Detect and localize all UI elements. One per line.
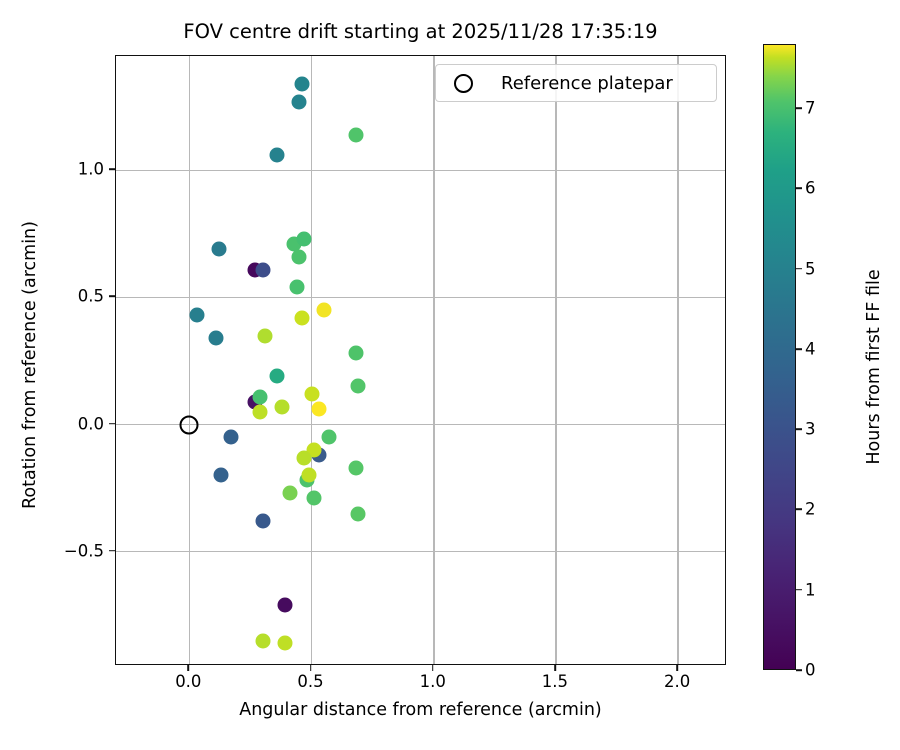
scatter-point (223, 430, 238, 445)
y-gridline (116, 170, 725, 172)
scatter-point (350, 379, 365, 394)
x-tick-label: 2.0 (664, 672, 690, 691)
colorbar-label: Hours from first FF file (864, 54, 884, 680)
scatter-point (292, 249, 307, 264)
scatter-point (294, 310, 309, 325)
scatter-point (348, 127, 363, 142)
colorbar-tick-label: 2 (805, 500, 816, 519)
y-axis-label: Rotation from reference (arcmin) (20, 60, 40, 670)
x-gridline (189, 56, 191, 664)
scatter-point (214, 468, 229, 483)
scatter-point (270, 369, 285, 384)
chart-figure: FOV centre drift starting at 2025/11/28 … (0, 0, 900, 750)
y-tick-label: −0.5 (64, 541, 104, 560)
x-gridline (433, 56, 435, 664)
colorbar-tick-label: 1 (805, 580, 816, 599)
scatter-point (275, 399, 290, 414)
y-tick-mark (109, 550, 115, 552)
y-tick-mark (109, 423, 115, 425)
x-tick-mark (310, 665, 312, 671)
colorbar-tick-label: 7 (805, 99, 816, 118)
legend: Reference platepar (435, 64, 717, 102)
y-tick-label: 1.0 (78, 160, 104, 179)
scatter-point (258, 328, 273, 343)
y-tick-label: 0.0 (78, 414, 104, 433)
scatter-point (209, 331, 224, 346)
scatter-point (277, 636, 292, 651)
scatter-point (306, 491, 321, 506)
x-tick-label: 0.0 (175, 672, 201, 691)
scatter-point (282, 486, 297, 501)
x-tick-label: 0.5 (297, 672, 323, 691)
colorbar-tick-mark (796, 188, 802, 190)
x-tick-label: 1.0 (420, 672, 446, 691)
y-gridline (116, 424, 725, 426)
colorbar-tick-mark (796, 589, 802, 591)
x-gridline (555, 56, 557, 664)
scatter-point (348, 460, 363, 475)
scatter-point (255, 633, 270, 648)
scatter-point (304, 387, 319, 402)
scatter-point (253, 389, 268, 404)
colorbar-tick-mark (796, 669, 802, 671)
scatter-point (311, 402, 326, 417)
scatter-point (297, 232, 312, 247)
scatter-point (348, 346, 363, 361)
colorbar-tick-label: 5 (805, 259, 816, 278)
colorbar-tick-mark (796, 428, 802, 430)
scatter-point (297, 450, 312, 465)
scatter-point (277, 598, 292, 613)
x-tick-mark (554, 665, 556, 671)
colorbar-tick-label: 3 (805, 420, 816, 439)
colorbar-tick-mark (796, 107, 802, 109)
y-tick-mark (109, 296, 115, 298)
colorbar-tick-mark (796, 348, 802, 350)
scatter-point (294, 76, 309, 91)
x-gridline (311, 56, 313, 664)
colorbar-tick-label: 6 (805, 179, 816, 198)
plot-area (115, 55, 726, 665)
x-tick-label: 1.5 (542, 672, 568, 691)
reference-platepar-marker-icon (454, 74, 473, 93)
scatter-point (321, 430, 336, 445)
page-title: FOV centre drift starting at 2025/11/28 … (115, 20, 726, 43)
scatter-point (253, 404, 268, 419)
scatter-point (211, 242, 226, 257)
y-gridline (116, 551, 725, 553)
scatter-point (292, 94, 307, 109)
scatter-point (255, 262, 270, 277)
reference-platepar-point (180, 415, 199, 434)
x-tick-mark (188, 665, 190, 671)
y-gridline (116, 297, 725, 299)
scatter-point (270, 148, 285, 163)
y-tick-mark (109, 169, 115, 171)
colorbar (763, 44, 796, 670)
scatter-point (316, 303, 331, 318)
colorbar-tick-label: 0 (805, 661, 816, 680)
colorbar-tick-mark (796, 509, 802, 511)
scatter-point (302, 468, 317, 483)
x-axis-label: Angular distance from reference (arcmin) (115, 700, 726, 720)
x-gridline (677, 56, 679, 664)
scatter-point (289, 280, 304, 295)
scatter-point (350, 506, 365, 521)
x-tick-mark (432, 665, 434, 671)
y-tick-label: 0.5 (78, 287, 104, 306)
x-tick-mark (676, 665, 678, 671)
scatter-point (255, 514, 270, 529)
scatter-point (189, 308, 204, 323)
legend-item-label: Reference platepar (501, 73, 673, 94)
colorbar-tick-label: 4 (805, 339, 816, 358)
colorbar-tick-mark (796, 268, 802, 270)
